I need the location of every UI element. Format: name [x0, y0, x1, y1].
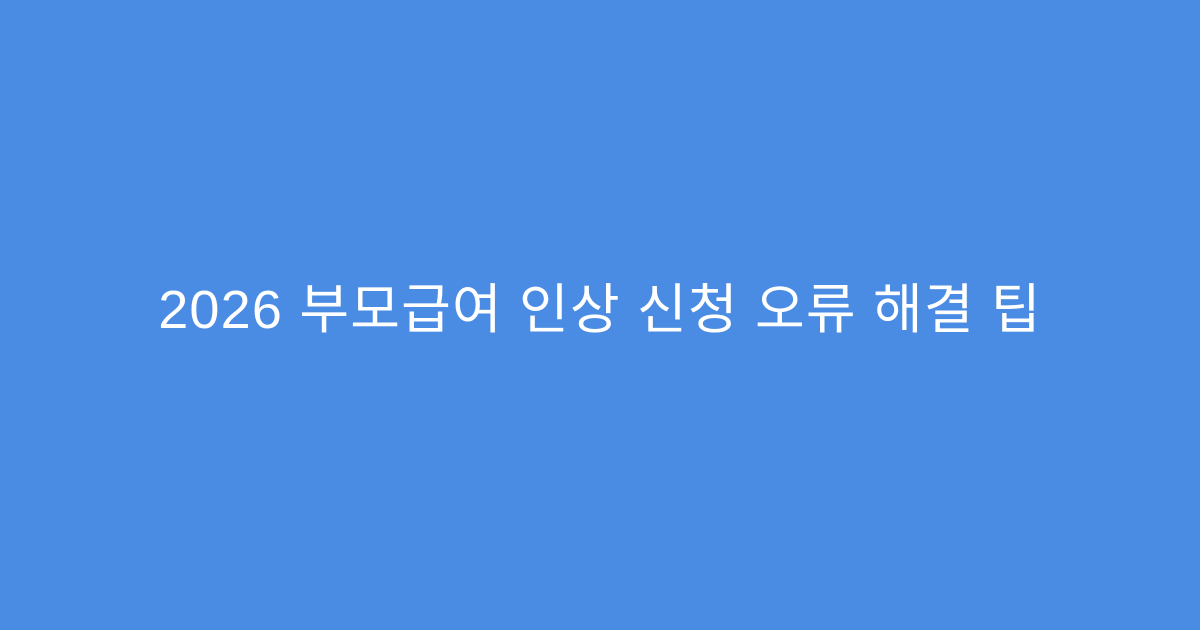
headline-container: 2026 부모급여 인상 신청 오류 해결 팁 — [50, 278, 1150, 344]
og-banner-card: 2026 부모급여 인상 신청 오류 해결 팁 — [0, 0, 1200, 630]
page-title: 2026 부모급여 인상 신청 오류 해결 팁 — [158, 278, 1042, 344]
